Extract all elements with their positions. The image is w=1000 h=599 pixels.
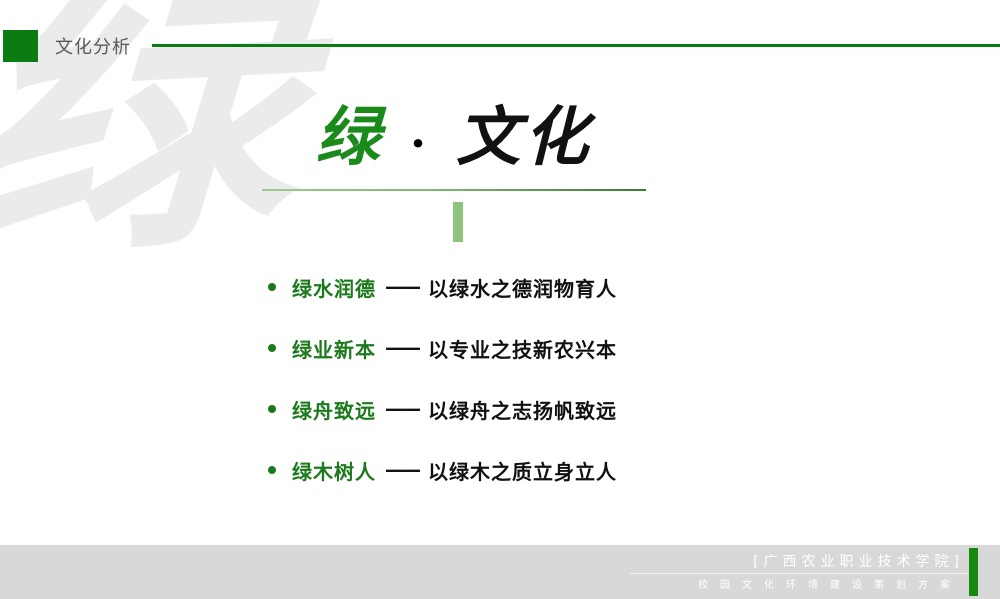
list-item-dash: —— (385, 398, 419, 420)
green-square-icon (3, 30, 38, 62)
list-item: 绿舟致远 —— 以绿舟之志扬帆致远 (268, 394, 617, 424)
footer-accent-bar (969, 548, 978, 596)
list-item: 绿水润德 —— 以绿水之德润物育人 (268, 272, 617, 302)
footer-subtitle: 校园文化环境建设策划方案 (698, 576, 962, 591)
bullet-dot-icon (268, 405, 276, 413)
title-block: 绿 · 文化 (262, 96, 646, 191)
list-item-dash: —— (385, 276, 419, 298)
organization-name: [广西农业职业技术学院] (753, 551, 964, 571)
page-title-separator: · (410, 116, 430, 170)
page-title: 绿 · 文化 (262, 96, 646, 185)
list-item-dash: —— (385, 459, 419, 481)
footer-divider-rule (630, 573, 970, 574)
list-item-value: 以绿水之德润物育人 (428, 273, 617, 302)
section-title: 文化分析 (55, 33, 131, 59)
list-item-key: 绿舟致远 (292, 395, 376, 424)
bullet-dot-icon (268, 283, 276, 291)
list-item-value: 以绿木之质立身立人 (428, 456, 617, 485)
page-title-black-part: 文化 (456, 100, 592, 175)
page-title-green-part: 绿 (316, 100, 384, 175)
list-item-key: 绿木树人 (292, 456, 376, 485)
title-underline-rule (262, 189, 646, 191)
bullet-dot-icon (268, 344, 276, 352)
list-item-value: 以专业之技新农兴本 (428, 334, 617, 363)
list-item-value: 以绿舟之志扬帆致远 (428, 395, 617, 424)
list-item-key: 绿业新本 (292, 334, 376, 363)
list-item-key: 绿水润德 (292, 273, 376, 302)
slide-canvas: 绿 文化分析 绿 · 文化 绿水润德 —— 以绿水之德润物育人 绿业新本 —— … (0, 0, 1000, 599)
list-item: 绿业新本 —— 以专业之技新农兴本 (268, 333, 617, 363)
bullet-dot-icon (268, 466, 276, 474)
title-accent-bar (453, 202, 463, 242)
culture-principles-list: 绿水润德 —— 以绿水之德润物育人 绿业新本 —— 以专业之技新农兴本 绿舟致远… (268, 272, 617, 485)
slide-header: 文化分析 (0, 0, 1000, 72)
list-item-dash: —— (385, 337, 419, 359)
header-divider-rule (152, 44, 1000, 47)
slide-footer: [广西农业职业技术学院] 校园文化环境建设策划方案 (0, 545, 1000, 599)
list-item: 绿木树人 —— 以绿木之质立身立人 (268, 455, 617, 485)
